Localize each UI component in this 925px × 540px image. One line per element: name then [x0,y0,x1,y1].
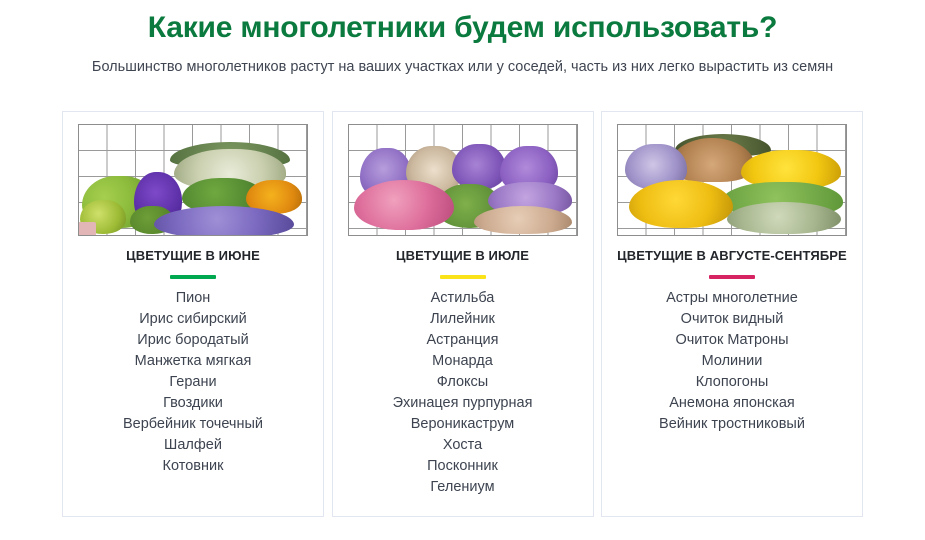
plant-list-july: Астильба Лилейник Астранция Монарда Флок… [333,288,593,498]
list-item: Гвоздики [63,393,323,414]
page-subtitle: Большинство многолетников растут на ваши… [0,58,925,76]
list-item: Астры многолетние [602,288,862,309]
pink-echinacea-group [354,180,454,230]
list-item: Клопогоны [602,372,862,393]
season-card-title: ЦВЕТУЩИЕ В ИЮЛЕ [396,248,529,264]
season-card-august-september[interactable]: ЦВЕТУЩИЕ В АВГУСТЕ-СЕНТЯБРЕ Астры многол… [601,111,863,517]
violet-groundcover-group [154,206,294,236]
list-item: Котовник [63,456,323,477]
list-item: Гелениум [333,477,593,498]
purple-veronicastrum-group [452,144,506,190]
list-item: Анемона японская [602,393,862,414]
list-item: Эхинацея пурпурная [333,393,593,414]
garden-bed-august-september-illustration [617,124,847,236]
paving-corner [78,222,96,236]
list-item: Флоксы [333,372,593,393]
plant-list-june: Пион Ирис сибирский Ирис бородатый Манже… [63,288,323,477]
list-item: Пион [63,288,323,309]
list-item: Астильба [333,288,593,309]
season-card-july[interactable]: ЦВЕТУЩИЕ В ИЮЛЕ Астильба Лилейник Астран… [332,111,594,517]
season-card-title: ЦВЕТУЩИЕ В ИЮНЕ [126,248,260,264]
garden-bed-june-illustration [78,124,308,236]
season-card-june[interactable]: ЦВЕТУЩИЕ В ИЮНЕ Пион Ирис сибирский Ирис… [62,111,324,517]
list-item: Посконник [333,456,593,477]
season-card-title: ЦВЕТУЩИЕ В АВГУСТЕ-СЕНТЯБРЕ [617,248,847,264]
list-item: Ирис бородатый [63,330,323,351]
list-item: Вейник тростниковый [602,414,862,435]
list-item: Очиток Матроны [602,330,862,351]
yellow-flower-group-left [629,180,733,228]
garden-bed-july-illustration [348,124,578,236]
list-item: Хоста [333,435,593,456]
season-cards-row: ЦВЕТУЩИЕ В ИЮНЕ Пион Ирис сибирский Ирис… [62,111,863,517]
accent-divider [440,275,486,279]
list-item: Герани [63,372,323,393]
blush-astilbe-group [474,206,572,234]
silver-foliage-group [727,202,841,234]
list-item: Молинии [602,351,862,372]
accent-divider [170,275,216,279]
list-item: Очиток видный [602,309,862,330]
list-item: Вербейник точечный [63,414,323,435]
list-item: Манжетка мягкая [63,351,323,372]
list-item: Шалфей [63,435,323,456]
list-item: Вероникаструм [333,414,593,435]
accent-divider [709,275,755,279]
plant-list-august-september: Астры многолетние Очиток видный Очиток М… [602,288,862,435]
list-item: Астранция [333,330,593,351]
list-item: Монарда [333,351,593,372]
page-title: Какие многолетники будем использовать? [0,8,925,48]
list-item: Лилейник [333,309,593,330]
page-header: Какие многолетники будем использовать? Б… [0,0,925,76]
list-item: Ирис сибирский [63,309,323,330]
